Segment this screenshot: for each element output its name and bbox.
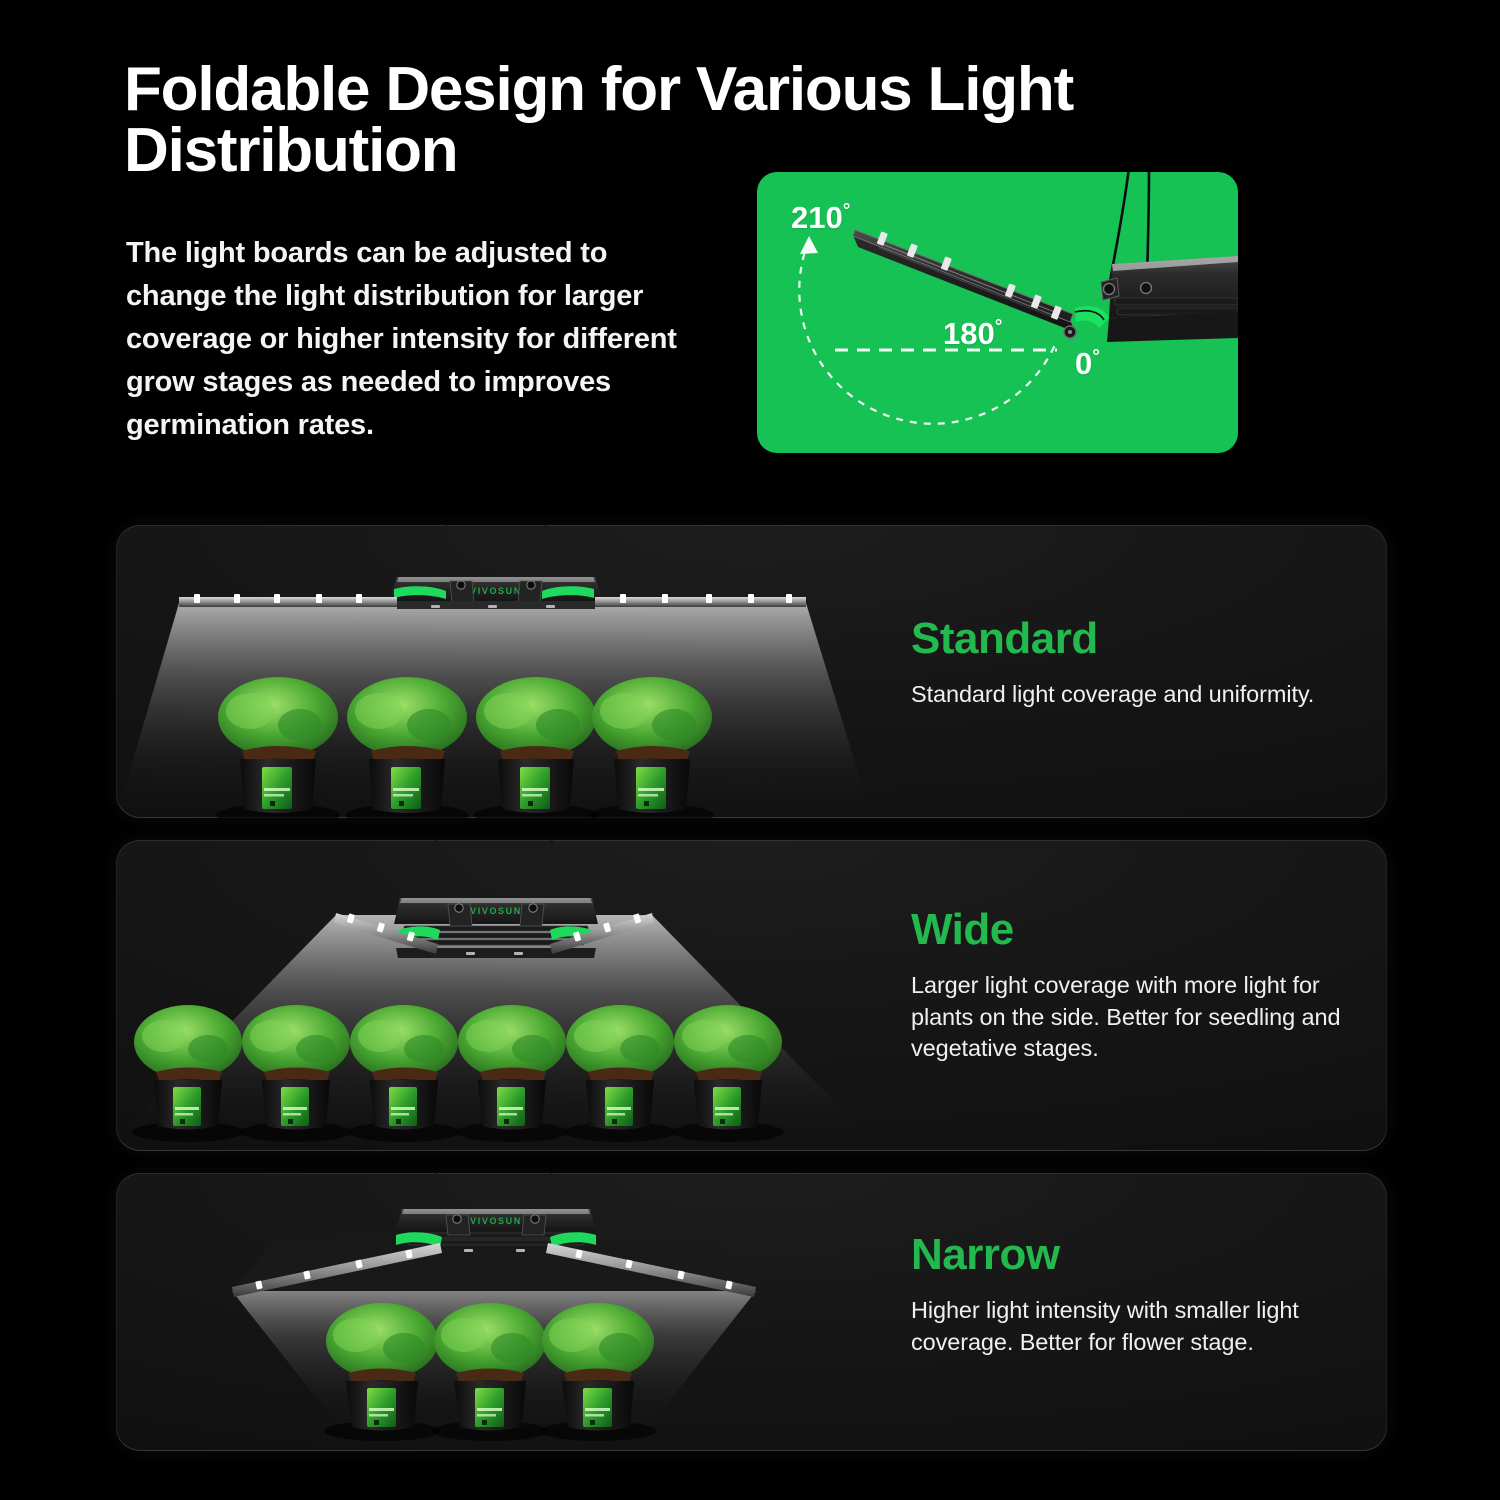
mode-title-narrow: Narrow: [911, 1233, 1381, 1277]
mode-desc-wide: Larger light coverage with more light fo…: [911, 970, 1381, 1065]
mode-title-standard: Standard: [911, 617, 1314, 661]
angle-label-210: 210°: [791, 200, 850, 236]
svg-text:VIVOSUN: VIVOSUN: [470, 906, 522, 916]
wide-illustration: VIVOSUN: [116, 840, 872, 1151]
angle-label-0: 0°: [1075, 346, 1100, 382]
mode-card-narrow: VIVOSUN: [116, 1173, 1387, 1451]
fixture-logo-text: VIVOSUN: [470, 586, 522, 596]
mode-card-wide: VIVOSUN: [116, 840, 1387, 1151]
mode-desc-narrow: Higher light intensity with smaller ligh…: [911, 1295, 1381, 1358]
page-root: Foldable Design for Various Light Distri…: [0, 0, 1500, 1500]
plant-group: [324, 1303, 656, 1441]
angle-label-180: 180°: [943, 316, 1002, 352]
narrow-illustration: VIVOSUN: [116, 1173, 872, 1451]
mode-card-standard: VIVOSUN: [116, 525, 1387, 818]
svg-text:VIVOSUN: VIVOSUN: [470, 1216, 522, 1226]
standard-illustration: VIVOSUN: [116, 525, 872, 818]
intro-paragraph: The light boards can be adjusted to chan…: [126, 232, 706, 447]
foldable-angle-diagram: 210° 180° 0°: [757, 172, 1238, 453]
mode-title-wide: Wide: [911, 908, 1381, 952]
mode-desc-standard: Standard light coverage and uniformity.: [911, 679, 1314, 711]
page-title: Foldable Design for Various Light Distri…: [124, 60, 1384, 182]
